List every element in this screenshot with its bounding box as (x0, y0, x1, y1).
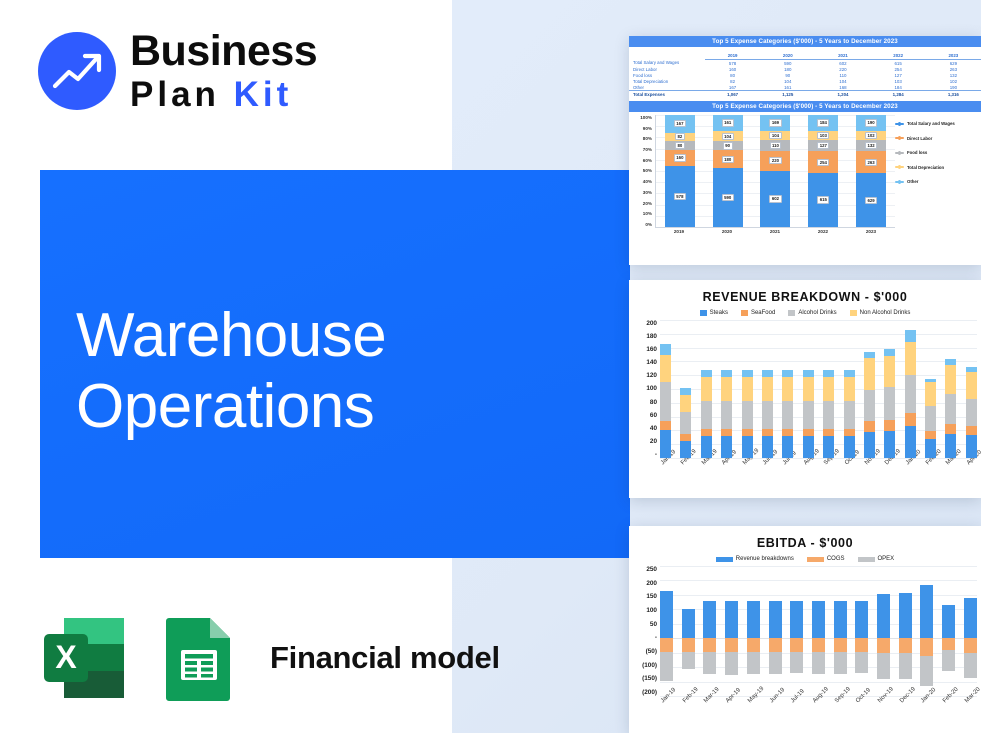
logo-line-plan-kit: Plan Kit (130, 77, 317, 112)
bar-value-label: 104 (769, 132, 781, 139)
stacked-bar (762, 320, 773, 458)
axis-tick: Aug-19 (803, 462, 814, 468)
bar-segment (782, 370, 793, 377)
bar-value-label: 104 (722, 133, 734, 140)
axis-tick: Oct-19 (844, 462, 855, 468)
legend-label: Total Depreciation (907, 165, 944, 170)
ebitda-chart-legend: Revenue breakdownsCOGSOPEX (629, 556, 981, 562)
bar-segment (925, 406, 936, 431)
bar-segment (884, 387, 895, 420)
bar-segment (945, 365, 956, 394)
bar-segment (660, 421, 671, 430)
bar-segment (823, 401, 834, 429)
legend-item: Total Salary and Wages (895, 121, 977, 126)
slide-canvas: Business Plan Kit Warehouse Operations X (0, 0, 981, 733)
bar-value-label: 102 (865, 132, 877, 139)
table-cell-label: Total Expenses (629, 91, 705, 98)
bar-segment (803, 370, 814, 377)
bar-value-label: 615 (817, 196, 829, 203)
brand-logo: Business Plan Kit (38, 30, 317, 112)
legend-swatch (895, 137, 904, 139)
stacked-bar: 16110490180590 (713, 115, 743, 227)
axis-tick: May-19 (747, 700, 760, 706)
legend-swatch (850, 310, 857, 316)
bar-segment (782, 377, 793, 401)
revenue-chart-title: REVENUE BREAKDOWN - $'000 (629, 280, 981, 304)
bar-value-label: 184 (817, 119, 829, 126)
axis-tick-label: 80% (632, 136, 652, 141)
legend-swatch (895, 152, 904, 154)
logo-word-plan: Plan (130, 75, 234, 114)
axis-tick-label: 120 (631, 372, 657, 379)
bar-value-label: 169 (769, 119, 781, 126)
axis-tick: Sep-19 (834, 700, 847, 706)
axis-tick-label: 150 (631, 593, 657, 600)
bar-segment: 615 (808, 173, 838, 227)
bar-segment (945, 394, 956, 424)
bar-value-label: 590 (722, 194, 734, 201)
bar-segment (925, 439, 936, 458)
axis-tick: Dec-19 (884, 462, 895, 468)
bar-segment: 90 (713, 141, 743, 150)
bar-segment (844, 436, 855, 458)
legend-swatch (807, 557, 824, 562)
bar-segment (762, 429, 773, 436)
bar-segment (701, 429, 712, 436)
axis-tick: Mar-20 (945, 462, 956, 468)
bar-segment (905, 413, 916, 426)
bar-segment (966, 372, 977, 398)
axis-tick: Feb-20 (925, 462, 936, 468)
axis-tick: Feb-20 (942, 700, 955, 706)
bar-segment: 127 (808, 140, 838, 151)
bar-segment (803, 436, 814, 458)
ebitda-chart-plot (660, 566, 977, 696)
expense-band-title-top: Top 5 Expense Categories ($'000) - 5 Yea… (629, 36, 981, 47)
axis-tick-label: 100% (632, 115, 652, 120)
bar-value-label: 161 (722, 119, 734, 126)
stacked-bar: 184103127254615 (808, 115, 838, 227)
bar-value-label: 110 (770, 142, 782, 149)
legend-item: Food loss (895, 150, 977, 155)
axis-tick-label: (150) (631, 675, 657, 682)
axis-tick-label: 0% (632, 222, 652, 227)
axis-tick-label: 60% (632, 158, 652, 163)
bar-segment: 578 (665, 166, 695, 227)
card-expense-categories: Top 5 Expense Categories ($'000) - 5 Yea… (629, 36, 981, 265)
axis-tick: Mar-19 (701, 462, 712, 468)
axis-tick-label: 2021 (760, 229, 790, 234)
bar-segment (701, 401, 712, 429)
ebitda-line-series (660, 566, 977, 696)
legend-item: Revenue breakdowns (716, 556, 794, 562)
bar-segment (905, 342, 916, 375)
table-cell: 1,125 (760, 91, 815, 98)
table-col-header: 2022 (871, 52, 926, 60)
bar-segment (742, 401, 753, 429)
bar-segment (660, 344, 671, 356)
card-ebitda: EBITDA - $'000 Revenue breakdownsCOGSOPE… (629, 526, 981, 733)
axis-tick-label: 20 (631, 438, 657, 445)
legend-item: Other (895, 179, 977, 184)
legend-swatch (895, 166, 904, 168)
page-title: Warehouse Operations (76, 300, 596, 443)
bar-segment (762, 401, 773, 429)
bar-segment (660, 430, 671, 458)
bar-segment: 82 (665, 133, 695, 142)
bar-segment (660, 382, 671, 421)
bar-segment (803, 377, 814, 401)
axis-tick-label: 70% (632, 147, 652, 152)
bar-segment (905, 375, 916, 413)
legend-swatch (895, 123, 904, 125)
table-cell: 1,284 (871, 91, 926, 98)
legend-label: Direct Labor (907, 136, 932, 141)
axis-tick-label: 30% (632, 190, 652, 195)
bar-segment: 161 (713, 115, 743, 131)
microsoft-excel-icon: X (38, 612, 130, 704)
stacked-bar (701, 320, 712, 458)
bar-segment (905, 426, 916, 458)
legend-item: Alcohol Drinks (788, 310, 836, 316)
expense-chart-legend: Total Salary and WagesDirect LaborFood l… (895, 121, 977, 184)
bar-segment (945, 424, 956, 434)
legend-item: Non Alcohol Drinks (850, 310, 911, 316)
format-badges: X Financial model (38, 612, 500, 704)
page-title-line1: Warehouse (76, 300, 596, 371)
axis-tick: Mar-20 (964, 700, 977, 706)
expense-stacked-chart: 100%90%80%70%60%50%40%30%20%10%0% 167828… (629, 115, 981, 243)
axis-tick-label: 180 (631, 333, 657, 340)
bar-segment: 190 (856, 115, 886, 131)
bar-segment (721, 377, 732, 401)
legend-item: SeaFood (741, 310, 775, 316)
axis-tick-label: 250 (631, 566, 657, 573)
svg-text:X: X (55, 639, 77, 675)
axis-tick: Jul-19 (782, 462, 793, 468)
axis-tick: Jan-19 (660, 462, 671, 468)
expense-band-title-bottom: Top 5 Expense Categories ($'000) - 5 Yea… (629, 101, 981, 112)
bar-segment (782, 436, 793, 458)
axis-tick: Apr-20 (966, 462, 977, 468)
ebitda-chart-y-axis: 25020015010050-(50)(100)(150)(200) (631, 566, 657, 696)
bar-segment (844, 377, 855, 401)
ebitda-chart-title: EBITDA - $'000 (629, 526, 981, 550)
axis-tick-label: 160 (631, 346, 657, 353)
axis-tick-label: (200) (631, 689, 657, 696)
legend-label: SeaFood (751, 310, 775, 316)
legend-swatch (788, 310, 795, 316)
google-sheets-icon (152, 612, 244, 704)
bar-segment: 80 (665, 141, 695, 149)
bar-segment (864, 432, 875, 458)
bar-segment (762, 436, 773, 458)
legend-label: Food loss (907, 150, 927, 155)
axis-tick-label: 20% (632, 201, 652, 206)
bar-segment: 220 (760, 151, 790, 171)
bar-value-label: 90 (723, 142, 733, 149)
table-col-header: 2023 (926, 52, 981, 60)
bar-segment (701, 436, 712, 458)
bar-segment (680, 412, 691, 433)
bar-segment: 103 (808, 131, 838, 140)
axis-tick-label: 60 (631, 412, 657, 419)
bar-segment: 602 (760, 171, 790, 227)
stacked-bar (721, 320, 732, 458)
bar-segment (701, 377, 712, 401)
bar-segment (966, 435, 977, 458)
bar-segment (680, 395, 691, 413)
bar-segment: 167 (665, 115, 695, 133)
axis-tick: Feb-19 (682, 700, 695, 706)
axis-tick: Apr-19 (725, 700, 738, 706)
legend-item: Direct Labor (895, 136, 977, 141)
legend-item: Steaks (700, 310, 728, 316)
bar-segment (945, 434, 956, 458)
expense-chart-y-axis: 100%90%80%70%60%50%40%30%20%10%0% (632, 115, 652, 227)
bar-value-label: 602 (769, 195, 781, 202)
bar-value-label: 132 (865, 142, 877, 149)
legend-label: Other (907, 179, 918, 184)
axis-tick: Nov-19 (864, 462, 875, 468)
axis-tick-label: 140 (631, 359, 657, 366)
bar-segment: 629 (856, 173, 886, 227)
bar-segment (884, 349, 895, 356)
axis-tick-label: 200 (631, 580, 657, 587)
logo-line-business: Business (130, 30, 317, 73)
legend-label: Alcohol Drinks (798, 310, 836, 316)
axis-tick: May-19 (742, 462, 753, 468)
bar-segment (762, 377, 773, 401)
stacked-bar (680, 320, 691, 458)
axis-tick-label: (100) (631, 662, 657, 669)
bar-segment (823, 370, 834, 377)
legend-label: Non Alcohol Drinks (860, 310, 911, 316)
bar-segment (884, 431, 895, 458)
bar-value-label: 263 (865, 159, 877, 166)
bar-segment: 263 (856, 151, 886, 173)
stacked-bar: 190102132263629 (856, 115, 886, 227)
bar-segment (864, 358, 875, 390)
bar-segment (680, 434, 691, 441)
footer-label: Financial model (270, 640, 500, 676)
bar-segment (701, 370, 712, 377)
bar-segment (721, 370, 732, 377)
revenue-chart-y-axis: 20018016014012010080604020- (631, 320, 657, 458)
legend-label: Revenue breakdowns (736, 556, 794, 562)
axis-tick: Jun-19 (762, 462, 773, 468)
bar-segment (742, 436, 753, 458)
legend-label: OPEX (878, 556, 895, 562)
bar-segment (823, 436, 834, 458)
bar-segment: 169 (760, 115, 790, 131)
axis-tick: Jul-19 (790, 700, 803, 706)
axis-tick: Jan-19 (660, 700, 673, 706)
stacked-bar (782, 320, 793, 458)
bar-segment (721, 401, 732, 429)
bar-segment (966, 399, 977, 427)
stacked-bar: 1678280160578 (665, 115, 695, 227)
legend-swatch (858, 557, 875, 562)
stacked-bar: 169104110220602 (760, 115, 790, 227)
bar-segment: 132 (856, 140, 886, 151)
stacked-bar (864, 320, 875, 458)
legend-item: COGS (807, 556, 845, 562)
bar-segment (803, 401, 814, 429)
revenue-chart-legend: SteaksSeaFoodAlcohol DrinksNon Alcohol D… (629, 310, 981, 316)
stacked-bar (925, 320, 936, 458)
revenue-chart-x-axis: Jan-19Feb-19Mar-19Apr-19May-19Jun-19Jul-… (660, 462, 977, 468)
trend-arrow-circle-icon (38, 32, 116, 110)
stacked-bar (905, 320, 916, 458)
bar-segment: 590 (713, 168, 743, 227)
table-col-header (629, 52, 705, 60)
stacked-bar (966, 320, 977, 458)
bar-segment (823, 377, 834, 401)
stacked-bar (844, 320, 855, 458)
table-total-row: Total Expenses1,0671,1251,2041,2841,316 (629, 91, 981, 98)
legend-label: Steaks (710, 310, 728, 316)
table-header-row: 20192020202120222023 (629, 52, 981, 60)
bar-segment (742, 377, 753, 401)
axis-tick-label: - (631, 451, 657, 458)
legend-swatch (700, 310, 707, 316)
bar-segment: 110 (760, 140, 790, 150)
legend-swatch (716, 557, 733, 562)
bar-segment (742, 370, 753, 377)
bar-segment: 104 (713, 131, 743, 141)
legend-swatch (741, 310, 748, 316)
bar-value-label: 127 (817, 142, 829, 149)
table-cell: 1,067 (705, 91, 760, 98)
bar-segment (680, 388, 691, 395)
bar-value-label: 167 (674, 120, 686, 127)
bar-segment (762, 370, 773, 377)
axis-tick-label: 100 (631, 385, 657, 392)
axis-tick-label: 2023 (856, 229, 886, 234)
expense-table: 20192020202120222023 Total Salary and Wa… (629, 52, 981, 97)
axis-tick: Dec-19 (899, 700, 912, 706)
bar-segment (823, 429, 834, 436)
axis-tick: Sep-19 (823, 462, 834, 468)
page-title-line2: Operations (76, 371, 596, 442)
stacked-bar (884, 320, 895, 458)
bar-segment (864, 390, 875, 422)
table-col-header: 2019 (705, 52, 760, 60)
table-cell: 1,316 (926, 91, 981, 98)
axis-tick-label: - (631, 634, 657, 641)
bar-segment (925, 431, 936, 439)
stacked-bar (803, 320, 814, 458)
axis-tick-label: 2022 (808, 229, 838, 234)
bar-segment: 184 (808, 115, 838, 131)
bar-segment (680, 441, 691, 458)
bar-segment (721, 429, 732, 436)
bar-segment (966, 426, 977, 435)
bar-value-label: 254 (817, 159, 829, 166)
bar-value-label: 103 (817, 132, 829, 139)
bar-segment (864, 421, 875, 431)
bar-segment: 102 (856, 131, 886, 140)
stacked-bar (660, 320, 671, 458)
legend-label: Total Salary and Wages (907, 121, 955, 126)
table-col-header: 2021 (815, 52, 870, 60)
bar-segment (782, 401, 793, 429)
bar-value-label: 82 (675, 133, 685, 140)
revenue-chart-body: 20018016014012010080604020- Jan-19Feb-19… (629, 320, 981, 490)
table-col-header: 2020 (760, 52, 815, 60)
revenue-chart-bars (660, 320, 977, 458)
legend-item: OPEX (858, 556, 895, 562)
axis-tick-label: 40% (632, 179, 652, 184)
legend-swatch (895, 181, 904, 183)
axis-tick-label: 10% (632, 211, 652, 216)
stacked-bar (742, 320, 753, 458)
axis-tick-label: 2019 (664, 229, 694, 234)
bar-value-label: 160 (674, 154, 686, 161)
axis-tick-label: 40 (631, 425, 657, 432)
bar-segment (844, 401, 855, 429)
axis-tick-label: (50) (631, 648, 657, 655)
bar-value-label: 180 (722, 156, 734, 163)
bar-segment (884, 356, 895, 387)
axis-tick-label: 90% (632, 126, 652, 131)
bar-value-label: 190 (865, 119, 877, 126)
bar-segment (905, 330, 916, 342)
bar-segment (660, 355, 671, 382)
bar-segment: 160 (665, 150, 695, 167)
axis-tick: Jun-19 (769, 700, 782, 706)
ebitda-chart-body: 25020015010050-(50)(100)(150)(200) Jan-1… (629, 566, 981, 726)
bar-value-label: 80 (675, 142, 685, 149)
ebitda-chart-x-axis: Jan-19Feb-19Mar-19Apr-19May-19Jun-19Jul-… (660, 700, 977, 706)
bar-value-label: 629 (865, 197, 877, 204)
axis-tick: Feb-19 (680, 462, 691, 468)
bar-value-label: 220 (769, 157, 781, 164)
axis-tick-label: 100 (631, 607, 657, 614)
legend-label: COGS (827, 556, 845, 562)
axis-tick-label: 200 (631, 320, 657, 327)
axis-tick: Mar-19 (703, 700, 716, 706)
bar-segment (844, 429, 855, 436)
axis-tick: Apr-19 (721, 462, 732, 468)
axis-tick: Oct-19 (855, 700, 868, 706)
bar-segment (803, 429, 814, 436)
axis-tick-label: 50% (632, 168, 652, 173)
bar-segment (782, 429, 793, 436)
axis-tick-label: 80 (631, 399, 657, 406)
stacked-bar (945, 320, 956, 458)
bar-segment: 180 (713, 150, 743, 168)
legend-item: Total Depreciation (895, 165, 977, 170)
stacked-bar (823, 320, 834, 458)
axis-tick: Jan-20 (920, 700, 933, 706)
card-revenue-breakdown: REVENUE BREAKDOWN - $'000 SteaksSeaFoodA… (629, 280, 981, 498)
axis-tick: Jan-20 (905, 462, 916, 468)
bar-segment (844, 370, 855, 377)
expense-chart-x-axis: 20192020202120222023 (655, 229, 895, 234)
revenue-chart-plot (660, 320, 977, 458)
logo-word-kit: Kit (234, 75, 293, 114)
axis-tick-label: 50 (631, 621, 657, 628)
bar-segment: 104 (760, 131, 790, 141)
bar-segment (742, 429, 753, 436)
bar-value-label: 578 (674, 193, 686, 200)
axis-tick-label: 2020 (712, 229, 742, 234)
axis-tick: Nov-19 (877, 700, 890, 706)
table-cell: 1,204 (815, 91, 870, 98)
expense-chart-plot: 1678280160578161104901805901691041102206… (655, 115, 895, 228)
